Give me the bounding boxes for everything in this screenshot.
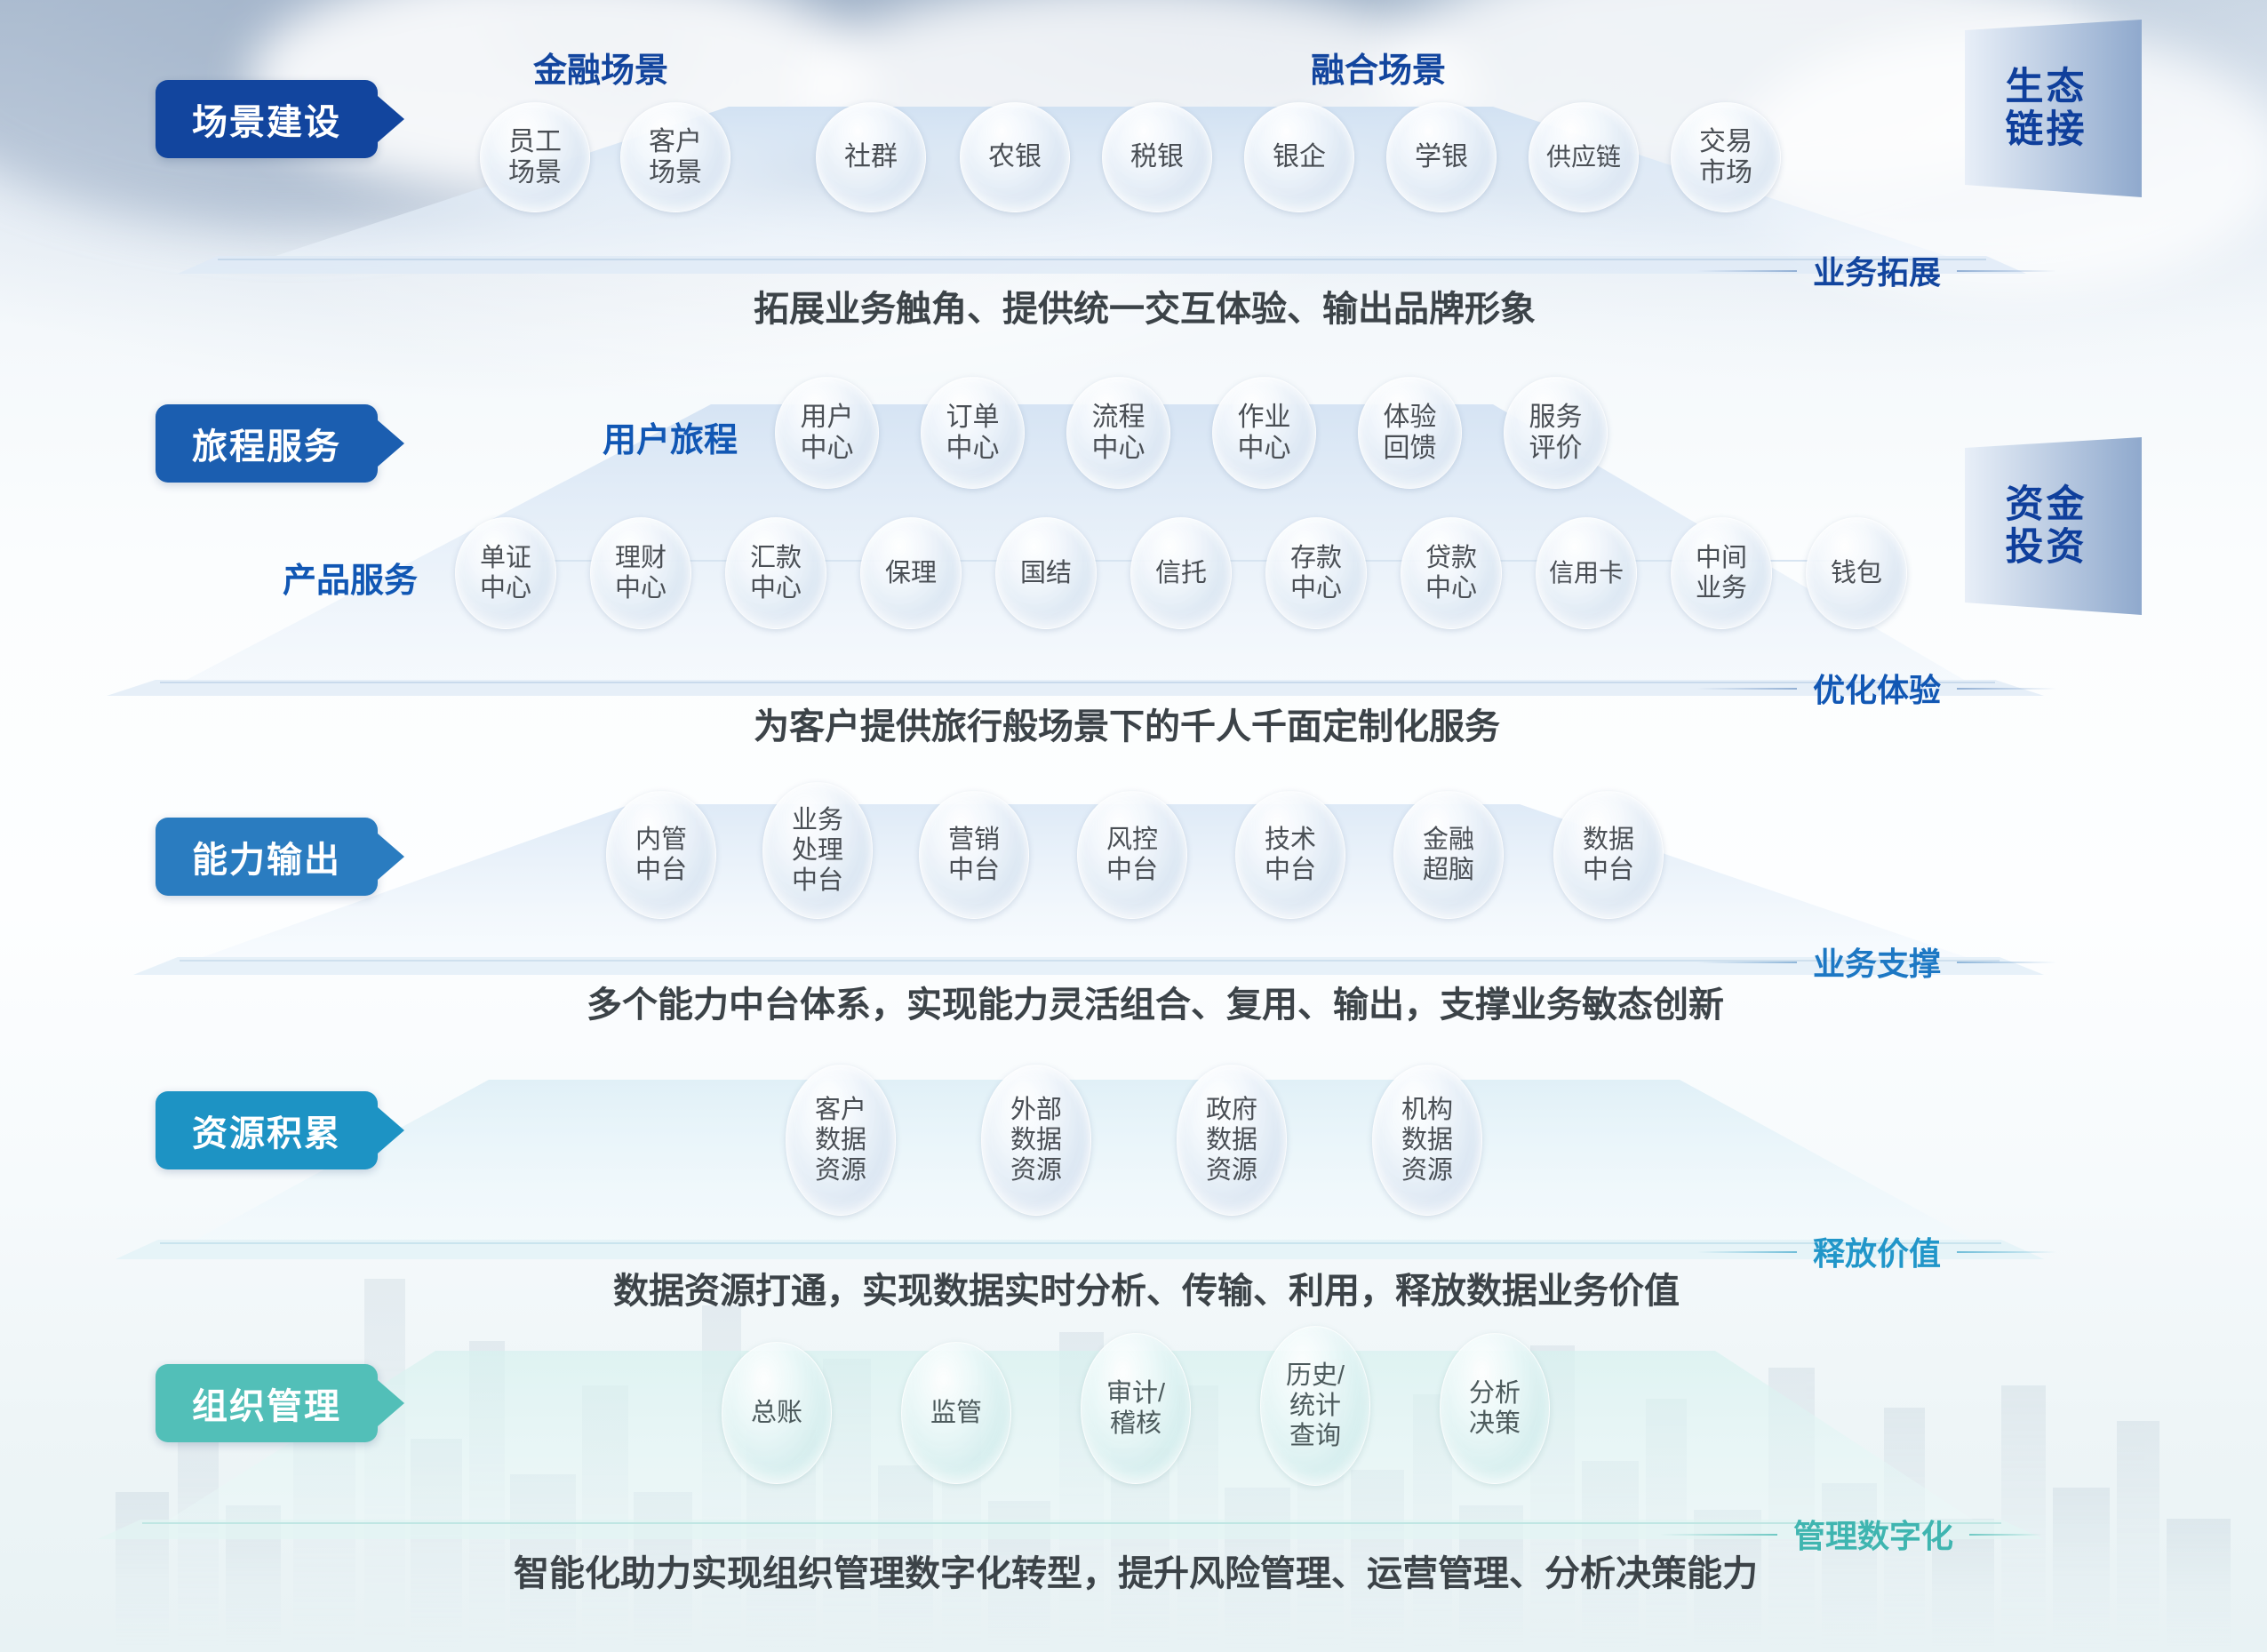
capability-bubble[interactable]: 内管 中台	[606, 791, 716, 919]
vertical-banner-capital-investment: 资金 投资	[1951, 437, 2142, 615]
journey-bubble[interactable]: 订单 中心	[921, 377, 1025, 489]
right-label-business-support: 业务支撑	[1813, 938, 1941, 985]
right-label-optimize-experience: 优化体验	[1813, 665, 1941, 711]
resource-bubble[interactable]: 客户 数据 资源	[786, 1065, 896, 1216]
journey-bubble[interactable]: 用户 中心	[775, 377, 879, 489]
group-label-product-service: 产品服务	[283, 553, 418, 602]
journey-bubble[interactable]: 流程 中心	[1066, 377, 1170, 489]
scene-bubble[interactable]: 学银	[1386, 102, 1497, 212]
divider-line-left	[1660, 1534, 1777, 1536]
tier-badge-resource-accumulation[interactable]: 资源积累	[156, 1091, 378, 1169]
badge-arrow-icon	[378, 1107, 404, 1153]
vertical-banner-label: 资金 投资	[1951, 437, 2142, 615]
organization-bubble[interactable]: 历史/ 统计 查询	[1260, 1326, 1370, 1486]
right-label-text: 业务支撑	[1813, 946, 1941, 982]
capability-bubble[interactable]: 风控 中台	[1077, 791, 1187, 919]
product-bubble[interactable]: 存款 中心	[1265, 517, 1367, 629]
scene-bubble[interactable]: 农银	[960, 102, 1070, 212]
organization-bubble[interactable]: 审计/ 稽核	[1081, 1333, 1191, 1484]
capability-bubble[interactable]: 数据 中台	[1553, 791, 1664, 919]
diagram-canvas: 场景建设 金融场景 融合场景 员工 场景 客户 场景 社群 农银 税银 银企 学…	[0, 0, 2267, 1652]
scene-bubble[interactable]: 交易 市场	[1671, 102, 1781, 212]
tier-badge-label: 资源积累	[192, 1105, 341, 1156]
capability-bubble[interactable]: 业务 处理 中台	[762, 782, 873, 919]
capability-bubble[interactable]: 金融 超脑	[1393, 791, 1504, 919]
tier-badge-label: 能力输出	[192, 831, 341, 882]
tier-badge-label: 场景建设	[192, 93, 341, 145]
right-label-text: 释放价值	[1813, 1235, 1941, 1272]
resource-bubble[interactable]: 机构 数据 资源	[1372, 1065, 1482, 1216]
divider-line-right	[1957, 270, 2056, 272]
tier-caption-capability-output: 多个能力中台体系，实现能力灵活组合、复用、输出，支撑业务敏态创新	[587, 976, 1724, 1027]
scene-bubble[interactable]: 社群	[816, 102, 926, 212]
product-bubble[interactable]: 贷款 中心	[1401, 517, 1502, 629]
tier-badge-scene-construction[interactable]: 场景建设	[156, 80, 378, 158]
right-label-text: 业务拓展	[1813, 254, 1941, 291]
product-bubble[interactable]: 信用卡	[1536, 517, 1637, 629]
scene-bubble[interactable]: 客户 场景	[620, 102, 730, 212]
journey-bubble[interactable]: 作业 中心	[1212, 377, 1316, 489]
resource-bubble[interactable]: 政府 数据 资源	[1177, 1065, 1287, 1216]
divider-line-left	[1697, 688, 1797, 690]
divider-line-left	[1697, 1251, 1797, 1253]
right-label-business-expansion: 业务拓展	[1813, 247, 1941, 293]
badge-arrow-icon	[378, 420, 404, 467]
capability-bubble[interactable]: 技术 中台	[1235, 791, 1345, 919]
badge-arrow-icon	[378, 834, 404, 880]
product-bubble[interactable]: 汇款 中心	[725, 517, 826, 629]
right-label-release-value: 释放价值	[1813, 1228, 1941, 1274]
organization-bubble[interactable]: 总账	[722, 1342, 832, 1484]
tier-caption-journey-service: 为客户提供旅行般场景下的千人千面定制化服务	[754, 698, 1500, 749]
product-bubble[interactable]: 单证 中心	[455, 517, 556, 629]
badge-arrow-icon	[378, 1380, 404, 1426]
tier-caption-resource-accumulation: 数据资源打通，实现数据实时分析、传输、利用，释放数据业务价值	[613, 1262, 1680, 1313]
product-bubble[interactable]: 理财 中心	[590, 517, 691, 629]
group-label-user-journey: 用户旅程	[603, 412, 738, 461]
product-bubble[interactable]: 保理	[860, 517, 962, 629]
divider-line-right	[1957, 962, 2056, 963]
vertical-banner-label: 生态 链接	[1951, 20, 2142, 197]
badge-arrow-icon	[378, 96, 404, 142]
right-label-management-digitalization: 管理数字化	[1793, 1511, 1953, 1557]
resource-bubble[interactable]: 外部 数据 资源	[981, 1065, 1091, 1216]
right-label-text: 优化体验	[1813, 672, 1941, 708]
group-label-financial-scene: 金融场景	[533, 43, 668, 92]
divider-line-right	[1957, 688, 2056, 690]
tier-badge-journey-service[interactable]: 旅程服务	[156, 404, 378, 483]
tier-badge-label: 旅程服务	[192, 418, 341, 469]
tier-caption-scene-construction: 拓展业务触角、提供统一交互体验、输出品牌形象	[754, 280, 1536, 331]
organization-bubble[interactable]: 分析 决策	[1440, 1333, 1550, 1484]
journey-bubble[interactable]: 体验 回馈	[1358, 377, 1462, 489]
divider-line-left	[1697, 962, 1797, 963]
vertical-banner-ecology-link: 生态 链接	[1951, 20, 2142, 197]
tier-badge-organization-management[interactable]: 组织管理	[156, 1364, 378, 1442]
product-bubble[interactable]: 信托	[1130, 517, 1232, 629]
right-label-text: 管理数字化	[1793, 1518, 1953, 1554]
organization-bubble[interactable]: 监管	[901, 1342, 1011, 1484]
scene-bubble[interactable]: 银企	[1244, 102, 1354, 212]
divider-line-right	[1957, 1251, 2056, 1253]
product-bubble[interactable]: 国结	[995, 517, 1097, 629]
scene-bubble[interactable]: 税银	[1102, 102, 1212, 212]
divider-line-left	[1697, 270, 1797, 272]
product-bubble[interactable]: 钱包	[1806, 517, 1907, 629]
scene-bubble[interactable]: 供应链	[1529, 102, 1639, 212]
tier-caption-organization-management: 智能化助力实现组织管理数字化转型，提升风险管理、运营管理、分析决策能力	[514, 1544, 1758, 1596]
tier-badge-label: 组织管理	[192, 1377, 341, 1429]
product-bubble[interactable]: 中间 业务	[1671, 517, 1772, 629]
group-label-fusion-scene: 融合场景	[1311, 43, 1446, 92]
journey-bubble[interactable]: 服务 评价	[1504, 377, 1608, 489]
tier-badge-capability-output[interactable]: 能力输出	[156, 818, 378, 896]
capability-bubble[interactable]: 营销 中台	[919, 791, 1029, 919]
scene-bubble[interactable]: 员工 场景	[480, 102, 590, 212]
divider-line-right	[1969, 1534, 2042, 1536]
